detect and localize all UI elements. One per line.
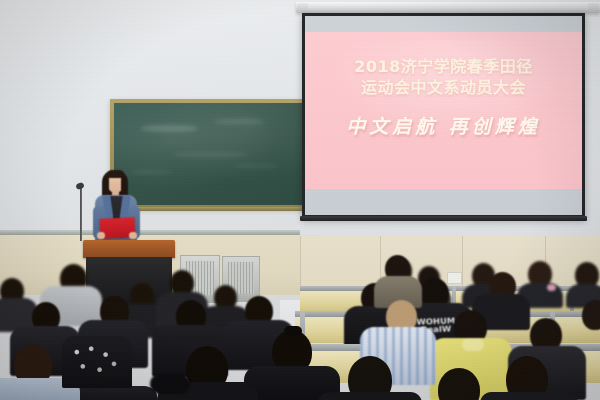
projection-screen-surface: 2018济宁学院春季田径 运动会中文系动员大会 中文启航 再创辉煌 (305, 16, 582, 215)
presenter-hand-left (97, 232, 105, 239)
slide-title-line-1: 2018济宁学院春季田径 (305, 56, 582, 77)
dark-object (150, 374, 190, 394)
lectern-top (83, 240, 175, 258)
wall-power-outlet (447, 272, 462, 284)
hair-tie (547, 284, 556, 291)
slide-title: 2018济宁学院春季田径 运动会中文系动员大会 (305, 56, 582, 98)
microphone-stand (80, 186, 82, 241)
screen-bottom-bar (300, 216, 587, 221)
slide-title-line-2: 运动会中文系动员大会 (305, 77, 582, 98)
floral-pattern (66, 342, 126, 384)
presenter-hand-right (129, 232, 137, 239)
screen-roller-housing (296, 2, 600, 13)
presentation-slide: 2018济宁学院春季田径 运动会中文系动员大会 中文启航 再创辉煌 (305, 32, 582, 189)
blackboard-surface (114, 103, 306, 205)
classroom-photo-scene: 2018济宁学院春季田径 运动会中文系动员大会 中文启航 再创辉煌 (0, 0, 600, 400)
blackboard (110, 99, 310, 209)
projection-screen: 2018济宁学院春季田径 运动会中文系动员大会 中文启航 再创辉煌 (302, 13, 585, 218)
slide-subtitle: 中文启航 再创辉煌 (305, 112, 582, 139)
